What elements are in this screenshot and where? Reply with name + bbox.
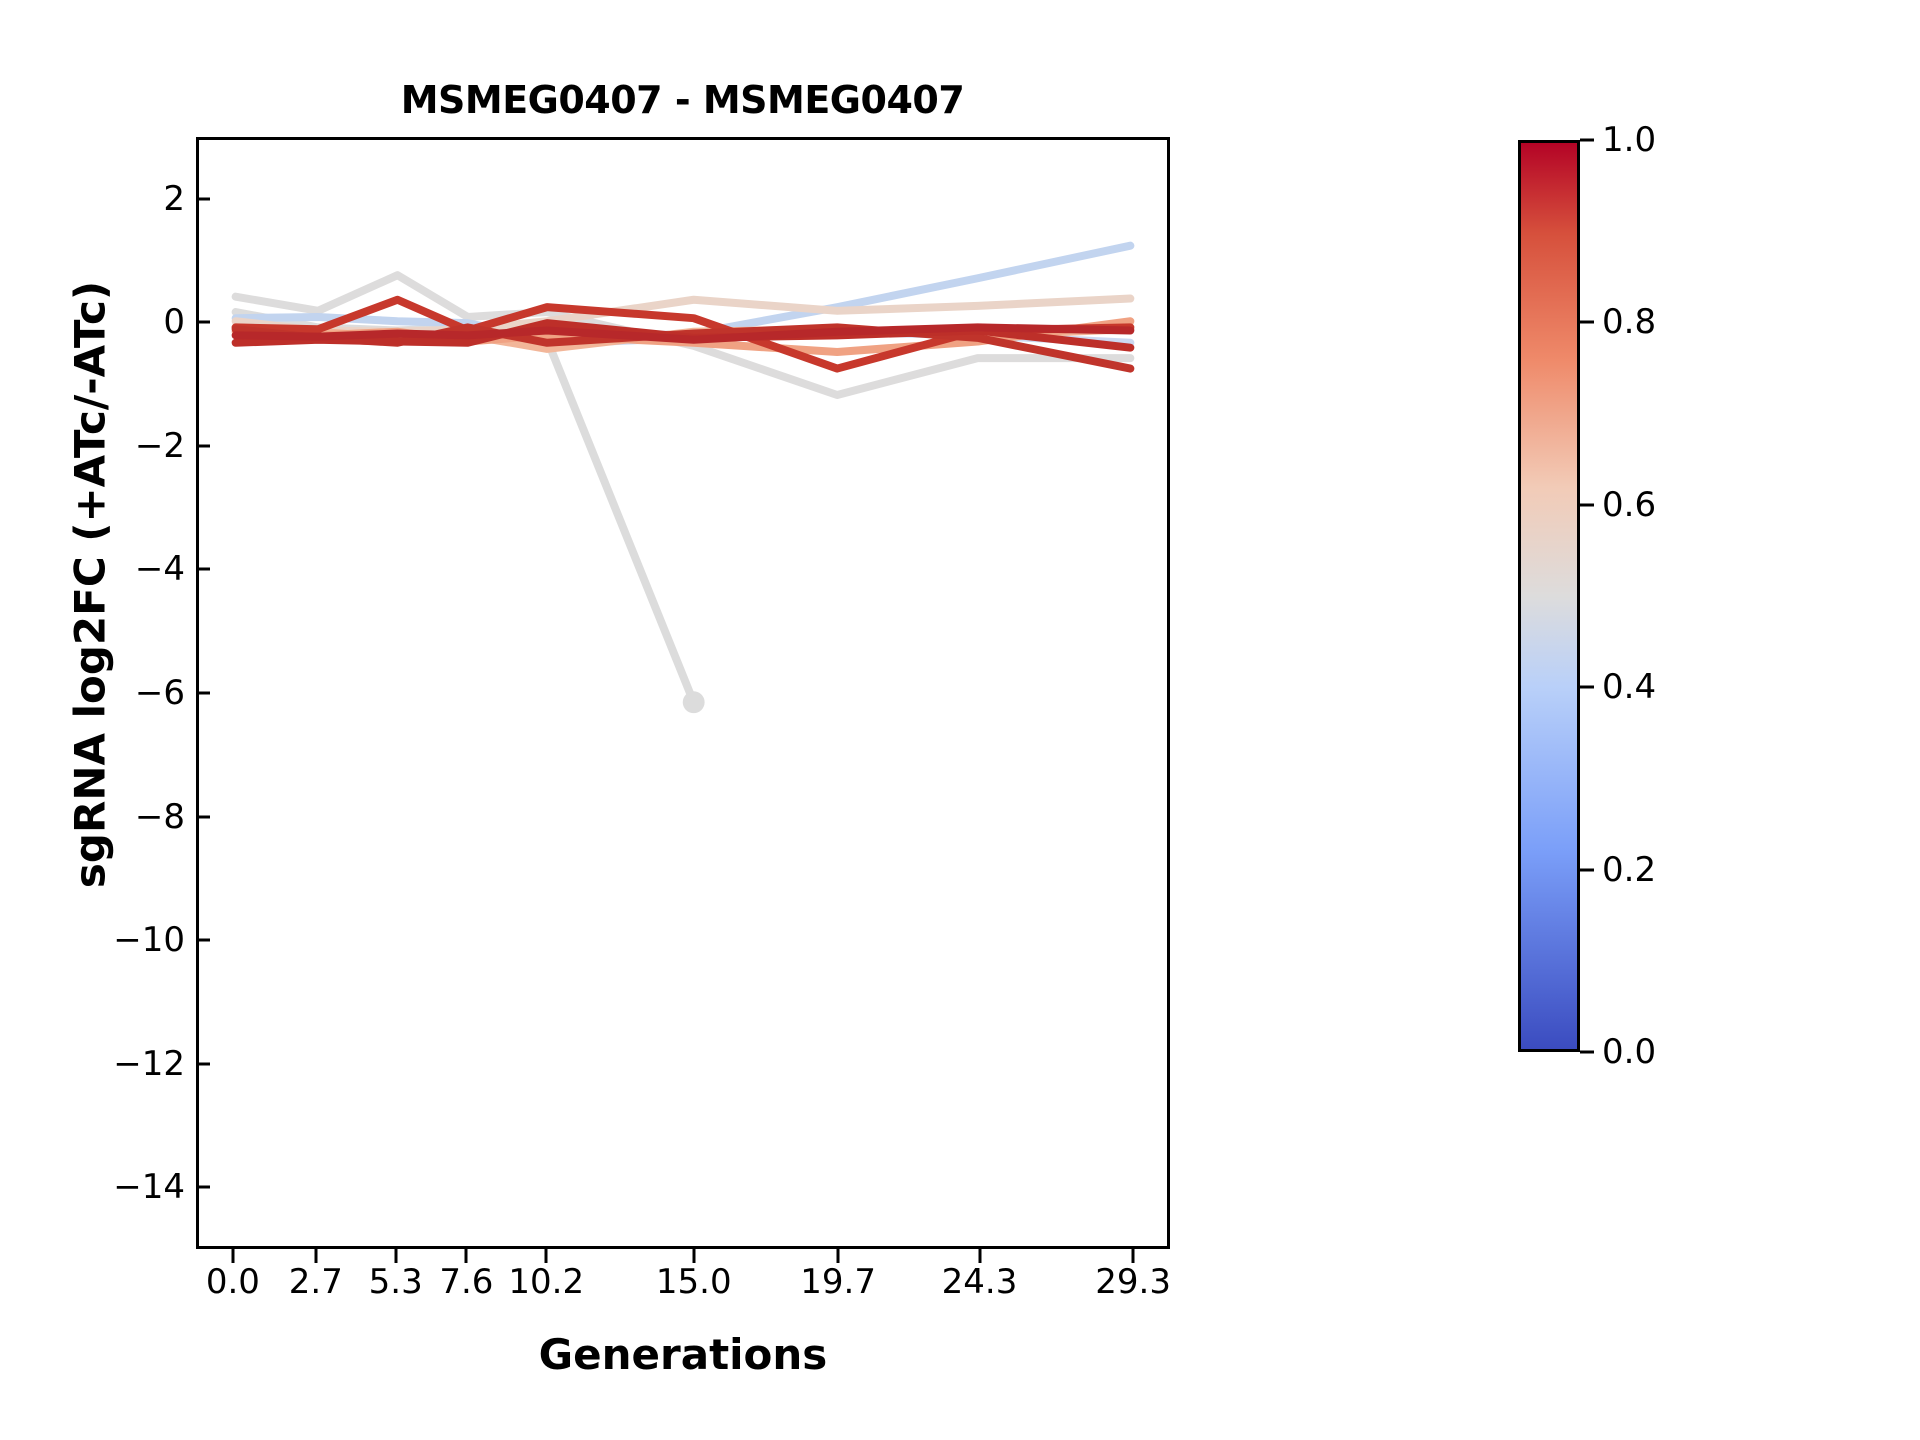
colorbar-tick-mark [1580,503,1594,506]
colorbar-tick-label: 1.0 [1602,120,1656,160]
colorbar-tick-label: 0.2 [1602,850,1656,890]
colorbar-tick-label: 0.8 [1602,302,1656,342]
colorbar-tick-mark [1580,139,1594,142]
colorbar-tick-label: 0.4 [1602,667,1656,707]
colorbar-tick-mark [1580,1051,1594,1054]
colorbar-tick-mark [1580,868,1594,871]
colorbar-tick-mark [1580,686,1594,689]
colorbar-tick-label: 0.0 [1602,1032,1656,1072]
figure-canvas: MSMEG0407 - MSMEG0407 20−2−4−6−8−10−12−1… [0,0,1920,1440]
colorbar-tick-mark [1580,321,1594,324]
colorbar-tick-label: 0.6 [1602,485,1656,525]
colorbar-tick-layer: 0.00.20.40.60.81.0 [0,0,1920,1440]
